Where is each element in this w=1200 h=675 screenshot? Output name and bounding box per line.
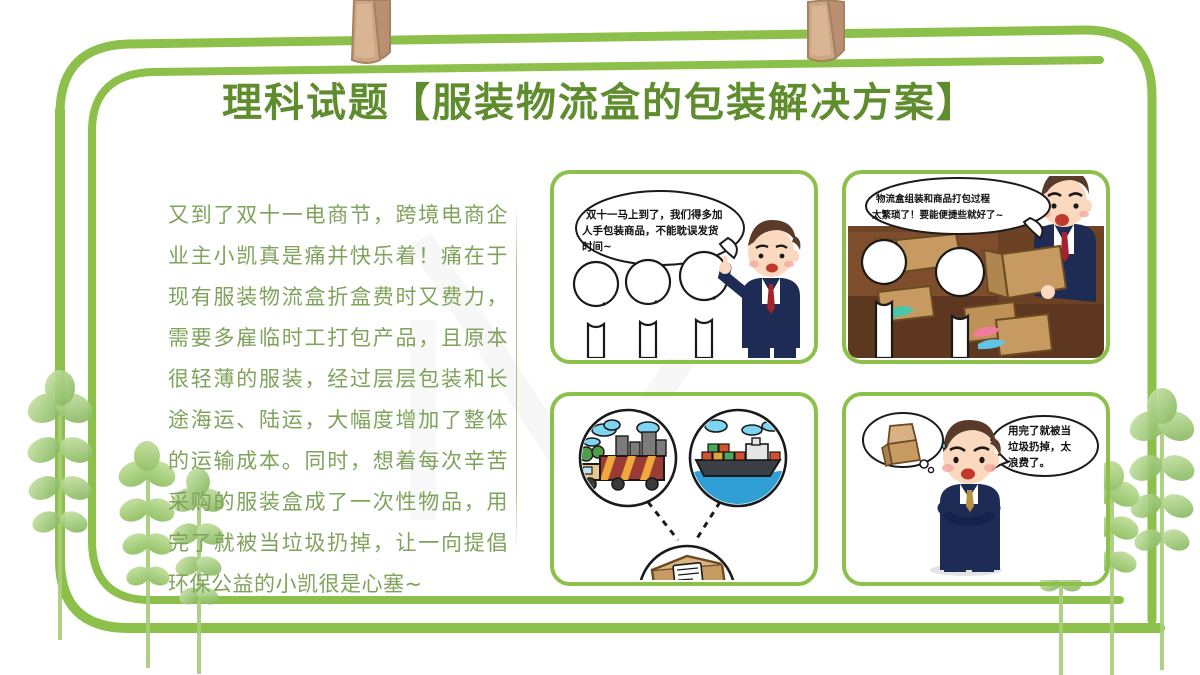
page-title: 理科试题【服装物流盒的包装解决方案】 [0,70,1200,128]
panel-packing-boxes: 物流盒组装和商品打包过程 太繁琐了！要能便捷些就好了~ [840,168,1112,366]
panel-4-art: 用完了就被当 垃圾扔掉，太 浪费了。 [848,398,1104,580]
slide-root: 理科试题【服装物流盒的包装解决方案】 又到了双十一电商节，跨境电商企业主小凯真是… [0,0,1200,675]
comic-grid: 双十一马上到了，我们得多加 人手包装商品，不能耽误发货 时间~ [548,168,1112,588]
truck-bubble [579,410,676,506]
panel-shipping-transport [548,390,820,588]
clothespin-clip-right [790,0,864,68]
vertical-divider [516,205,517,550]
clothespin-clip-left [330,0,404,68]
panel-1-art: 双十一马上到了，我们得多加 人手包装商品，不能耽误发货 时间~ [556,176,812,358]
panel-4-bubble-line-3: 浪费了。 [1008,456,1050,469]
panel-2-bubble-line-2: 太繁琐了！要能便捷些就好了~ [872,209,1003,221]
panel-1-bubble-line-2: 人手包装商品，不能耽误发货 [582,224,719,237]
panel-1-bubble-line-3: 时间~ [582,240,612,253]
body-text-block: 又到了双十一电商节，跨境电商企业主小凯真是痛并快乐着！痛在于现有服装物流盒折盒费… [168,195,508,605]
panel-staff-meeting: 双十一马上到了，我们得多加 人手包装商品，不能耽误发货 时间~ [548,168,820,366]
panel-1-bubble-line-1: 双十一马上到了，我们得多加 [585,208,723,221]
panel-discarded-box: 用完了就被当 垃圾扔掉，太 浪费了。 [840,390,1112,588]
panel-2-art: 物流盒组装和商品打包过程 太繁琐了！要能便捷些就好了~ [848,176,1104,358]
panel-2-bubble-line-1: 物流盒组装和商品打包过程 [876,193,991,205]
panel-3-art [556,398,812,580]
body-paragraph: 又到了双十一电商节，跨境电商企业主小凯真是痛并快乐着！痛在于现有服装物流盒折盒费… [168,195,508,605]
panel-4-bubble-line-1: 用完了就被当 [1007,424,1071,437]
panel-4-bubble-line-2: 垃圾扔掉，太 [1008,440,1071,453]
